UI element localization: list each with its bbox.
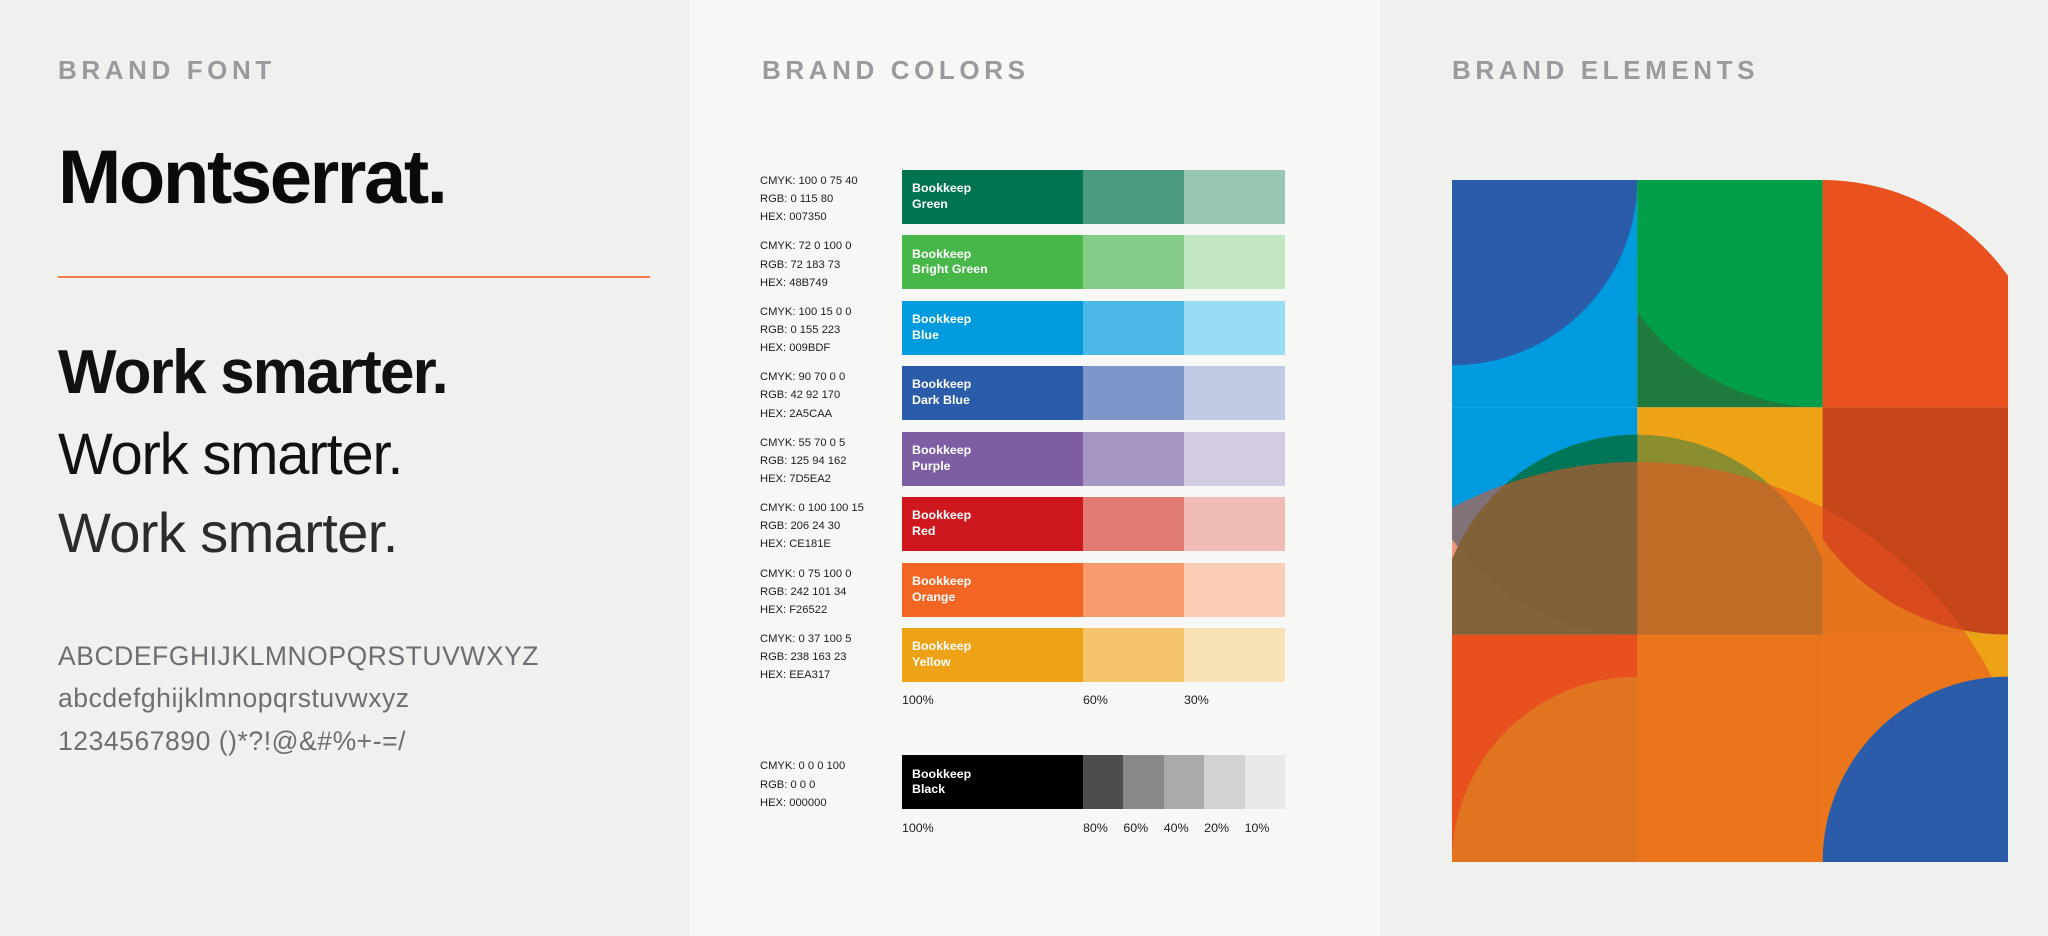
color-specs: CMYK: 55 70 0 5RGB: 125 94 162HEX: 7D5EA… xyxy=(760,432,902,488)
charset-numerals: 1234567890 ()*?!@&#%+-=/ xyxy=(58,720,658,763)
black-tint-label: 100% xyxy=(902,821,1083,835)
swatch-tint-gray[interactable] xyxy=(1123,755,1163,809)
rgb-value: RGB: 0 115 80 xyxy=(760,190,902,208)
swatch-tint[interactable] xyxy=(1083,563,1184,617)
hex-value: HEX: 48B749 xyxy=(760,274,902,292)
brand-font-panel: BRAND FONT Montserrat. Work smarter. Wor… xyxy=(0,0,690,936)
swatch-name-line2: Blue xyxy=(912,328,1083,344)
swatch-tint[interactable] xyxy=(1184,497,1285,551)
color-specs: CMYK: 0 100 100 15RGB: 206 24 30HEX: CE1… xyxy=(760,497,902,553)
orange-divider-rule xyxy=(58,276,650,278)
swatch-main[interactable]: BookkeepBright Green xyxy=(902,235,1083,289)
swatch-strip: BookkeepDark Blue xyxy=(902,366,1285,420)
swatch-name-line1: Bookkeep xyxy=(912,312,1083,328)
swatch-name-line2: Bright Green xyxy=(912,262,1083,278)
swatch-name-line1: Bookkeep xyxy=(912,443,1083,459)
swatch-name-line2: Green xyxy=(912,197,1083,213)
art-quarter-circles xyxy=(1452,180,2008,862)
swatch-strip: BookkeepBright Green xyxy=(902,235,1285,289)
swatch-tint[interactable] xyxy=(1184,563,1285,617)
brand-elements-panel: BRAND ELEMENTS xyxy=(1380,0,2048,936)
swatch-tint-gray[interactable] xyxy=(1164,755,1204,809)
cmyk-value: CMYK: 0 0 0 100 xyxy=(760,757,902,775)
swatch-strip: BookkeepOrange xyxy=(902,563,1285,617)
swatch-tint[interactable] xyxy=(1083,432,1184,486)
swatch-main[interactable]: BookkeepGreen xyxy=(902,170,1083,224)
swatch-main[interactable]: BookkeepYellow xyxy=(902,628,1083,682)
swatch-tint[interactable] xyxy=(1083,366,1184,420)
swatch-name-line1: Bookkeep xyxy=(912,377,1083,393)
color-specs: CMYK: 0 75 100 0RGB: 242 101 34HEX: F265… xyxy=(760,563,902,619)
swatch-name-line1: Bookkeep xyxy=(912,247,1083,263)
swatch-name-line2: Orange xyxy=(912,590,1083,606)
color-row: CMYK: 0 75 100 0RGB: 242 101 34HEX: F265… xyxy=(690,563,1380,619)
swatch-tint[interactable] xyxy=(1083,497,1184,551)
cmyk-value: CMYK: 0 37 100 5 xyxy=(760,630,902,648)
rgb-value: RGB: 206 24 30 xyxy=(760,517,902,535)
cmyk-value: CMYK: 100 0 75 40 xyxy=(760,172,902,190)
swatch-main[interactable]: BookkeepDark Blue xyxy=(902,366,1083,420)
color-specs: CMYK: 72 0 100 0RGB: 72 183 73HEX: 48B74… xyxy=(760,235,902,291)
swatch-tint-gray[interactable] xyxy=(1204,755,1244,809)
charset-uppercase: ABCDEFGHIJKLMNOPQRSTUVWXYZ xyxy=(58,635,658,678)
swatch-name-line2: Dark Blue xyxy=(912,393,1083,409)
swatch-tint[interactable] xyxy=(1083,170,1184,224)
charset-lowercase: abcdefghijklmnopqrstuvwxyz xyxy=(58,677,658,720)
swatch-main[interactable]: BookkeepBlue xyxy=(902,301,1083,355)
color-row: CMYK: 90 70 0 0RGB: 42 92 170HEX: 2A5CAA… xyxy=(690,366,1380,422)
cmyk-value: CMYK: 100 15 0 0 xyxy=(760,303,902,321)
color-row-black: CMYK: 0 0 0 100 RGB: 0 0 0 HEX: 000000 B… xyxy=(690,755,1380,811)
tint-label: 60% xyxy=(1083,693,1184,707)
swatch-name-line1: Bookkeep xyxy=(912,181,1083,197)
swatch-strip-black: BookkeepBlack xyxy=(902,755,1285,809)
hex-value: HEX: 7D5EA2 xyxy=(760,470,902,488)
swatch-tint-gray[interactable] xyxy=(1083,755,1123,809)
hex-value: HEX: EEA317 xyxy=(760,666,902,684)
swatch-tint-gray[interactable] xyxy=(1245,755,1285,809)
color-specs: CMYK: 100 15 0 0RGB: 0 155 223HEX: 009BD… xyxy=(760,301,902,357)
hex-value: HEX: 000000 xyxy=(760,794,902,812)
color-row: CMYK: 55 70 0 5RGB: 125 94 162HEX: 7D5EA… xyxy=(690,432,1380,488)
color-swatch-list: CMYK: 100 0 75 40RGB: 0 115 80HEX: 00735… xyxy=(690,170,1380,835)
swatch-tint[interactable] xyxy=(1184,432,1285,486)
swatch-name-line1: Bookkeep xyxy=(912,639,1083,655)
cmyk-value: CMYK: 55 70 0 5 xyxy=(760,434,902,452)
black-tint-percentage-labels: 100%80%60%40%20%10% xyxy=(902,821,1285,835)
swatch-main-black[interactable]: BookkeepBlack xyxy=(902,755,1083,809)
swatch-strip: BookkeepRed xyxy=(902,497,1285,551)
swatch-name-line2: Black xyxy=(912,782,1083,798)
swatch-name-line2: Purple xyxy=(912,459,1083,475)
swatch-strip: BookkeepPurple xyxy=(902,432,1285,486)
rgb-value: RGB: 42 92 170 xyxy=(760,386,902,404)
font-character-set: ABCDEFGHIJKLMNOPQRSTUVWXYZ abcdefghijklm… xyxy=(58,635,658,764)
color-row: CMYK: 100 15 0 0RGB: 0 155 223HEX: 009BD… xyxy=(690,301,1380,357)
color-row: CMYK: 72 0 100 0RGB: 72 183 73HEX: 48B74… xyxy=(690,235,1380,291)
brand-colors-panel: BRAND COLORS CMYK: 100 0 75 40RGB: 0 115… xyxy=(690,0,1380,936)
swatch-tint[interactable] xyxy=(1184,170,1285,224)
tint-percentage-labels: 100%60%30% xyxy=(902,693,1285,707)
swatch-strip: BookkeepGreen xyxy=(902,170,1285,224)
font-name-display: Montserrat. xyxy=(58,140,658,216)
hex-value: HEX: 2A5CAA xyxy=(760,405,902,423)
swatch-main[interactable]: BookkeepOrange xyxy=(902,563,1083,617)
black-tint-label: 80% xyxy=(1083,821,1123,835)
swatch-strip: BookkeepYellow xyxy=(902,628,1285,682)
hex-value: HEX: 009BDF xyxy=(760,339,902,357)
swatch-strip: BookkeepBlue xyxy=(902,301,1285,355)
brand-geometric-composition xyxy=(1452,180,2008,862)
hex-value: HEX: CE181E xyxy=(760,535,902,553)
swatch-tint[interactable] xyxy=(1083,235,1184,289)
rgb-value: RGB: 125 94 162 xyxy=(760,452,902,470)
swatch-main[interactable]: BookkeepPurple xyxy=(902,432,1083,486)
font-sample-regular: Work smarter. xyxy=(58,424,658,485)
swatch-tint[interactable] xyxy=(1184,628,1285,682)
swatch-tint[interactable] xyxy=(1184,235,1285,289)
black-tint-label: 20% xyxy=(1204,821,1244,835)
color-specs: CMYK: 90 70 0 0RGB: 42 92 170HEX: 2A5CAA xyxy=(760,366,902,422)
font-sample-bold: Work smarter. xyxy=(58,340,658,406)
rgb-value: RGB: 242 101 34 xyxy=(760,583,902,601)
cmyk-value: CMYK: 72 0 100 0 xyxy=(760,237,902,255)
swatch-name-line2: Yellow xyxy=(912,655,1083,671)
swatch-tint[interactable] xyxy=(1083,301,1184,355)
brand-font-heading: BRAND FONT xyxy=(58,55,276,86)
color-specs-black: CMYK: 0 0 0 100 RGB: 0 0 0 HEX: 000000 xyxy=(760,755,902,811)
color-specs: CMYK: 100 0 75 40RGB: 0 115 80HEX: 00735… xyxy=(760,170,902,226)
cmyk-value: CMYK: 90 70 0 0 xyxy=(760,368,902,386)
black-tint-label: 60% xyxy=(1123,821,1163,835)
swatch-name-line1: Bookkeep xyxy=(912,508,1083,524)
black-tint-label: 40% xyxy=(1164,821,1204,835)
black-swatch-block: CMYK: 0 0 0 100 RGB: 0 0 0 HEX: 000000 B… xyxy=(690,755,1380,834)
swatch-name-line1: Bookkeep xyxy=(912,767,1083,783)
swatch-tint[interactable] xyxy=(1083,628,1184,682)
font-sample-light: Work smarter. xyxy=(58,503,658,562)
rgb-value: RGB: 72 183 73 xyxy=(760,256,902,274)
swatch-tint[interactable] xyxy=(1184,301,1285,355)
color-specs: CMYK: 0 37 100 5RGB: 238 163 23HEX: EEA3… xyxy=(760,628,902,684)
color-row: CMYK: 100 0 75 40RGB: 0 115 80HEX: 00735… xyxy=(690,170,1380,226)
rgb-value: RGB: 0 0 0 xyxy=(760,776,902,794)
color-row: CMYK: 0 37 100 5RGB: 238 163 23HEX: EEA3… xyxy=(690,628,1380,684)
hex-value: HEX: F26522 xyxy=(760,601,902,619)
rgb-value: RGB: 0 155 223 xyxy=(760,321,902,339)
hex-value: HEX: 007350 xyxy=(760,208,902,226)
brand-font-content: Montserrat. Work smarter. Work smarter. … xyxy=(58,140,658,763)
brand-colors-heading: BRAND COLORS xyxy=(762,55,1030,86)
tint-label: 30% xyxy=(1184,693,1285,707)
brand-elements-heading: BRAND ELEMENTS xyxy=(1452,55,1759,86)
cmyk-value: CMYK: 0 75 100 0 xyxy=(760,565,902,583)
color-row: CMYK: 0 100 100 15RGB: 206 24 30HEX: CE1… xyxy=(690,497,1380,553)
tint-label: 100% xyxy=(902,693,1083,707)
rgb-value: RGB: 238 163 23 xyxy=(760,648,902,666)
swatch-tint[interactable] xyxy=(1184,366,1285,420)
black-tint-label: 10% xyxy=(1245,821,1285,835)
swatch-main[interactable]: BookkeepRed xyxy=(902,497,1083,551)
swatch-name-line1: Bookkeep xyxy=(912,574,1083,590)
swatch-name-line2: Red xyxy=(912,524,1083,540)
cmyk-value: CMYK: 0 100 100 15 xyxy=(760,499,902,517)
